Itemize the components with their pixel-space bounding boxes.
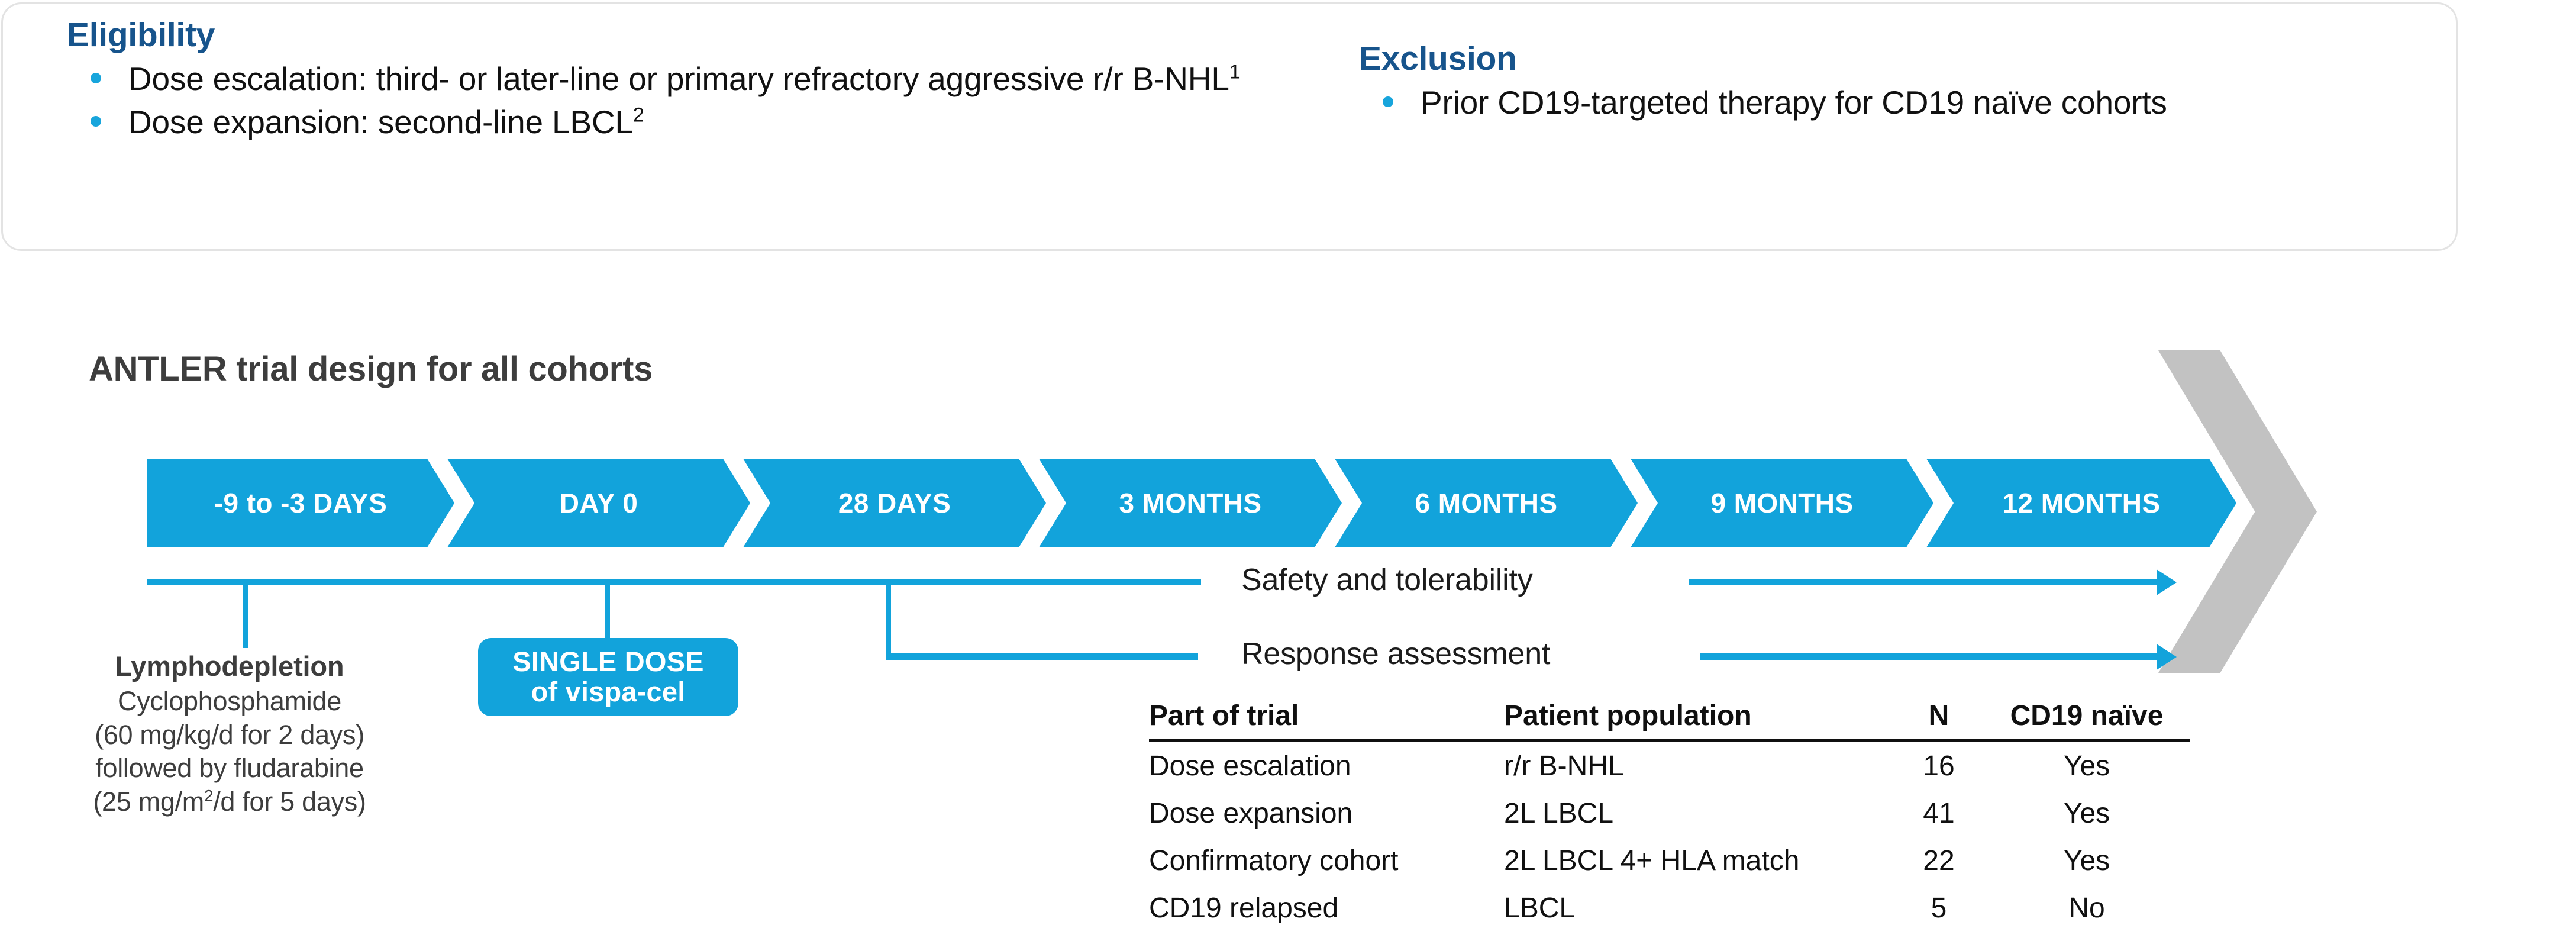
timeline-step-label: DAY 0 bbox=[560, 487, 638, 519]
timeline: -9 to -3 DAYS DAY 0 28 DAYS 3 MONTHS 6 M… bbox=[147, 459, 2170, 547]
cohort-table: Part of trial Patient population N CD19 … bbox=[1149, 700, 2190, 932]
connector-rail bbox=[147, 579, 1201, 585]
timeline-step[interactable]: 28 DAYS bbox=[743, 459, 1046, 547]
lymphodepletion-line: followed by fludarabine bbox=[64, 752, 395, 785]
timeline-step-label: -9 to -3 DAYS bbox=[214, 487, 387, 519]
timeline-step-label: 9 MONTHS bbox=[1711, 487, 1854, 519]
table-row: Dose expansion 2L LBCL 41 Yes bbox=[1149, 789, 2190, 837]
bullet-icon bbox=[91, 73, 101, 83]
cell-n: 22 bbox=[1894, 837, 1983, 884]
dose-suffix: /d for 5 days) bbox=[213, 787, 366, 817]
cell-part: Dose escalation bbox=[1149, 741, 1504, 790]
timeline-step-label: 3 MONTHS bbox=[1119, 487, 1262, 519]
exclusion-list: Prior CD19-targeted therapy for CD19 naï… bbox=[1359, 82, 2448, 124]
arrow-head-icon bbox=[2157, 644, 2177, 670]
single-dose-line1: SINGLE DOSE bbox=[512, 647, 703, 677]
connector-response-drop bbox=[886, 583, 891, 659]
superscript-two: 2 bbox=[204, 787, 213, 805]
list-item: Dose expansion: second-line LBCL2 bbox=[67, 102, 1297, 143]
arrow-head-icon bbox=[2157, 569, 2177, 595]
cell-cd19-naive: Yes bbox=[1983, 741, 2190, 790]
timeline-step-label: 28 DAYS bbox=[838, 487, 951, 519]
cell-n: 5 bbox=[1894, 884, 1983, 932]
table-header-row: Part of trial Patient population N CD19 … bbox=[1149, 700, 2190, 741]
table-row: Confirmatory cohort 2L LBCL 4+ HLA match… bbox=[1149, 837, 2190, 884]
eligibility-item-text: Dose expansion: second-line LBCL bbox=[128, 104, 633, 140]
assessment-label-safety: Safety and tolerability bbox=[1241, 562, 1533, 598]
assessment-arrow-safety bbox=[1689, 579, 2162, 585]
single-dose-line2: of vispa-cel bbox=[531, 677, 686, 707]
single-dose-badge[interactable]: SINGLE DOSE of vispa-cel bbox=[478, 638, 738, 716]
cell-population: 2L LBCL bbox=[1504, 789, 1894, 837]
list-item: Dose escalation: third- or later-line or… bbox=[67, 59, 1297, 100]
column-header-part: Part of trial bbox=[1149, 700, 1504, 741]
bullet-icon bbox=[1383, 96, 1393, 107]
cell-part: Dose expansion bbox=[1149, 789, 1504, 837]
footnote-marker: 2 bbox=[633, 104, 644, 127]
connector-single-dose bbox=[605, 583, 610, 639]
eligibility-item-text: Dose escalation: third- or later-line or… bbox=[128, 60, 1229, 97]
exclusion-item-text: Prior CD19-targeted therapy for CD19 naï… bbox=[1421, 84, 2167, 121]
criteria-card: Eligibility Dose escalation: third- or l… bbox=[1, 2, 2458, 251]
eligibility-heading: Eligibility bbox=[67, 17, 1297, 54]
cell-cd19-naive: Yes bbox=[1983, 789, 2190, 837]
timeline-step[interactable]: 12 MONTHS bbox=[1926, 459, 2236, 547]
footnote-marker: 1 bbox=[1229, 60, 1241, 83]
connector-lymphodepletion bbox=[243, 583, 248, 648]
cell-population: r/r B-NHL bbox=[1504, 741, 1894, 790]
timeline-step-label: 12 MONTHS bbox=[2003, 487, 2161, 519]
assessment-arrow-response bbox=[1700, 653, 2162, 660]
lymphodepletion-title: Lymphodepletion bbox=[64, 650, 395, 682]
cell-n: 16 bbox=[1894, 741, 1983, 790]
eligibility-column: Eligibility Dose escalation: third- or l… bbox=[67, 17, 1297, 146]
cell-part: Confirmatory cohort bbox=[1149, 837, 1504, 884]
timeline-step[interactable]: 3 MONTHS bbox=[1039, 459, 1342, 547]
column-header-cd19-naive: CD19 naïve bbox=[1983, 700, 2190, 741]
lymphodepletion-line: (25 mg/m2/d for 5 days) bbox=[64, 785, 395, 819]
connector-response-rail bbox=[886, 653, 1198, 660]
timeline-step[interactable]: DAY 0 bbox=[447, 459, 750, 547]
lymphodepletion-block: Lymphodepletion Cyclophosphamide (60 mg/… bbox=[64, 650, 395, 819]
cell-part: CD19 relapsed bbox=[1149, 884, 1504, 932]
cell-cd19-naive: No bbox=[1983, 884, 2190, 932]
timeline-step-label: 6 MONTHS bbox=[1415, 487, 1558, 519]
column-header-population: Patient population bbox=[1504, 700, 1894, 741]
bullet-icon bbox=[91, 116, 101, 127]
cell-n: 41 bbox=[1894, 789, 1983, 837]
cell-population: LBCL bbox=[1504, 884, 1894, 932]
timeline-step[interactable]: 9 MONTHS bbox=[1631, 459, 1933, 547]
timeline-step[interactable]: 6 MONTHS bbox=[1335, 459, 1638, 547]
list-item: Prior CD19-targeted therapy for CD19 naï… bbox=[1359, 82, 2448, 124]
dose-prefix: (25 mg/m bbox=[93, 787, 204, 817]
column-header-n: N bbox=[1894, 700, 1983, 741]
diagram-title: ANTLER trial design for all cohorts bbox=[89, 349, 653, 389]
assessment-label-response: Response assessment bbox=[1241, 636, 1550, 672]
table-row: CD19 relapsed LBCL 5 No bbox=[1149, 884, 2190, 932]
exclusion-heading: Exclusion bbox=[1359, 41, 2448, 78]
eligibility-list: Dose escalation: third- or later-line or… bbox=[67, 59, 1297, 144]
cell-population: 2L LBCL 4+ HLA match bbox=[1504, 837, 1894, 884]
lymphodepletion-line: (60 mg/kg/d for 2 days) bbox=[64, 718, 395, 752]
timeline-step[interactable]: -9 to -3 DAYS bbox=[147, 459, 454, 547]
exclusion-column: Exclusion Prior CD19-targeted therapy fo… bbox=[1359, 41, 2448, 125]
cell-cd19-naive: Yes bbox=[1983, 837, 2190, 884]
table-row: Dose escalation r/r B-NHL 16 Yes bbox=[1149, 741, 2190, 790]
lymphodepletion-line: Cyclophosphamide bbox=[64, 685, 395, 718]
